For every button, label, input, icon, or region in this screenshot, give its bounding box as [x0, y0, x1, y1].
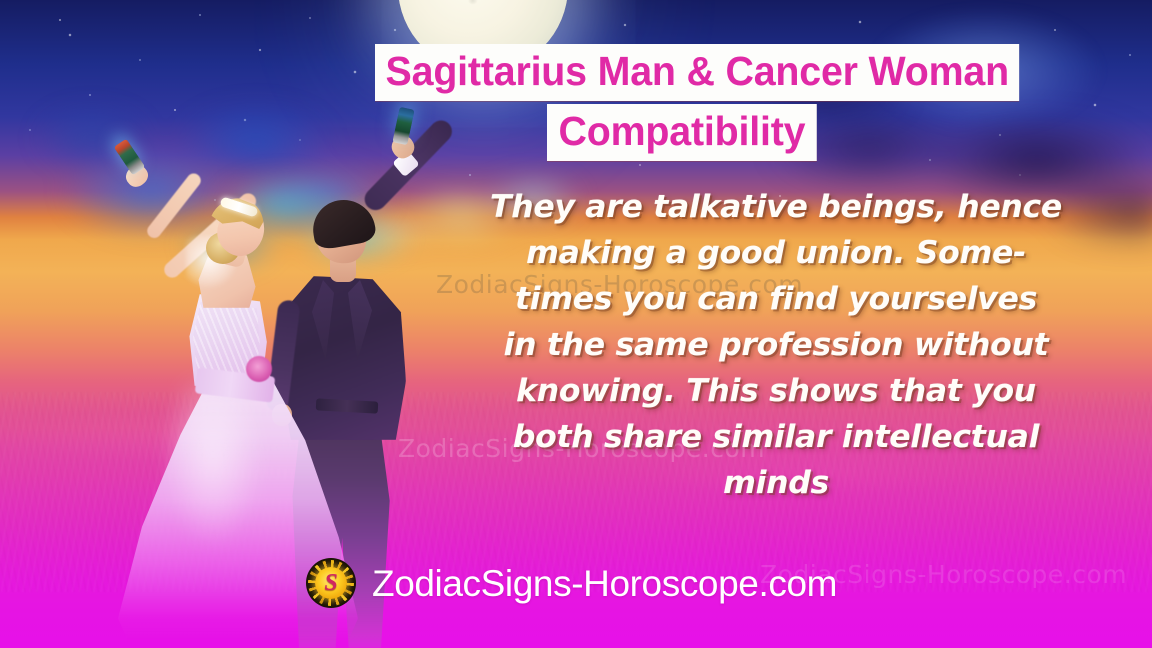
title-line-2: Compatibility	[547, 104, 817, 161]
body-line: in the same profession without	[452, 322, 1100, 368]
body-line: times you can find yourselves	[452, 276, 1100, 322]
title-line-1: Sagittarius Man & Cancer Woman	[375, 44, 1020, 101]
sunburst-logo-icon: S	[306, 558, 356, 608]
bride-flower-accent	[246, 356, 272, 382]
logo-letter-s: S	[306, 558, 356, 608]
site-branding[interactable]: S ZodiacSigns-Horoscope.com	[306, 558, 837, 608]
body-line: minds	[452, 460, 1100, 506]
body-paragraph: They are talkative beings, hence making …	[452, 184, 1100, 506]
body-line: They are talkative beings, hence	[452, 184, 1100, 230]
poster-canvas: ZodiacSigns-Horoscope.com ZodiacSigns-Ho…	[0, 0, 1152, 648]
body-line: both share similar intellectual	[452, 414, 1100, 460]
bride-gown-highlight	[150, 380, 300, 630]
bride-forearm	[144, 171, 203, 241]
poster-title: Sagittarius Man & Cancer Woman Compatibi…	[0, 44, 1152, 161]
body-line: knowing. This shows that you	[452, 368, 1100, 414]
site-name-text: ZodiacSigns-Horoscope.com	[372, 565, 837, 602]
body-line: making a good union. Some-	[452, 230, 1100, 276]
